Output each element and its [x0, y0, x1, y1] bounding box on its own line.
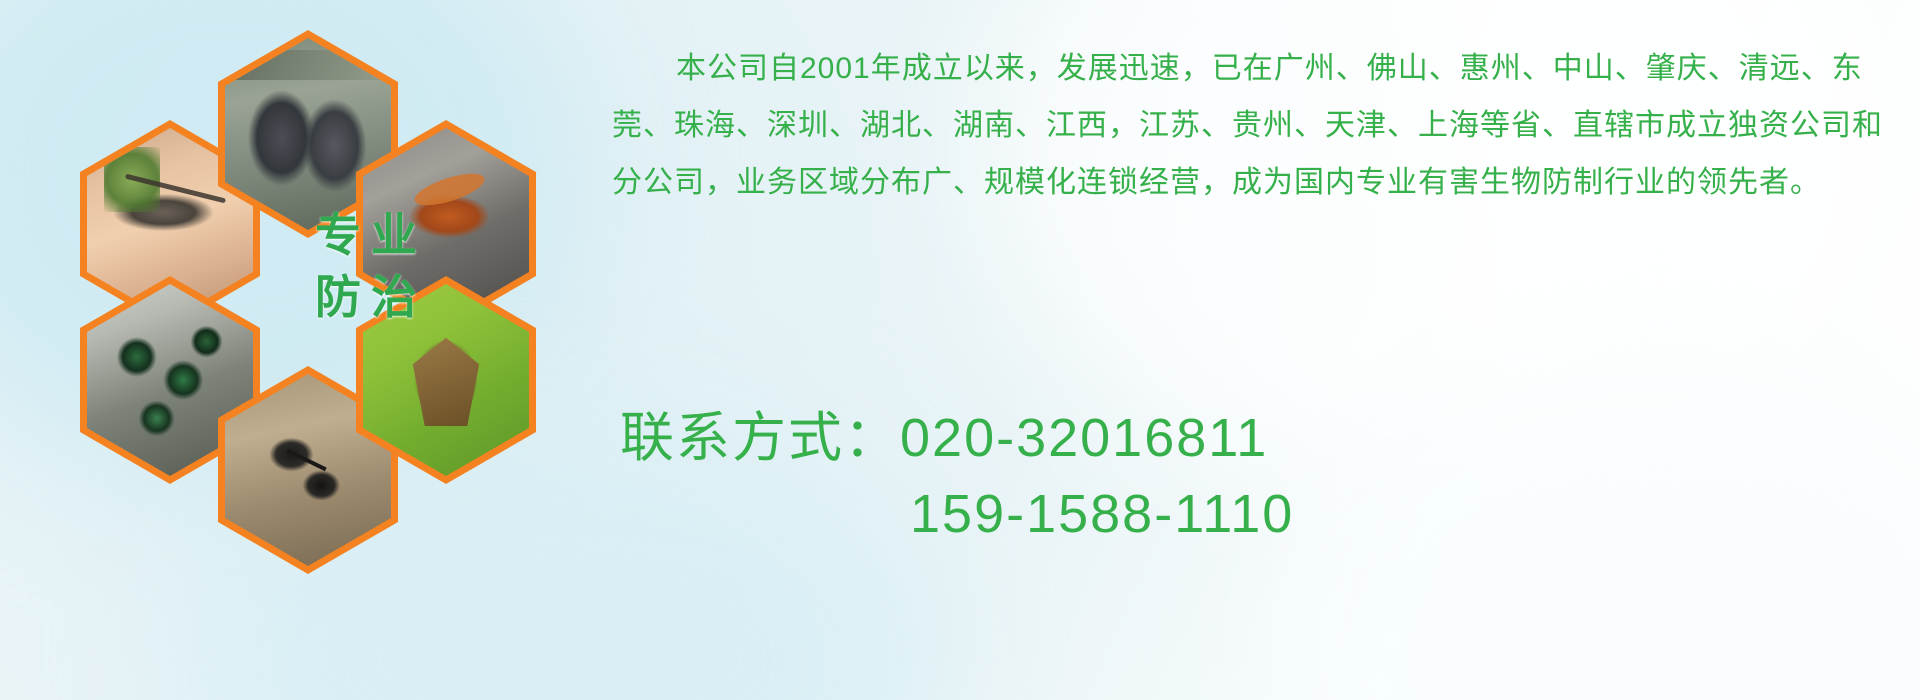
comb-center-label: 专业 防治	[278, 205, 464, 328]
honeycomb-photo-collage: 专业 防治	[80, 10, 600, 570]
comb-label-line-1: 专业	[278, 205, 464, 267]
contact-primary-line: 联系方式：020-32016811	[620, 400, 1720, 476]
contact-label: 联系方式：	[620, 408, 900, 468]
contact-secondary-line: 159-1588-1110	[620, 476, 1720, 552]
pest-control-banner: 专业 防治 本公司自2001年成立以来，发展迅速，已在广州、佛山、惠州、中山、肇…	[0, 0, 1920, 700]
phone-primary[interactable]: 020-32016811	[900, 408, 1268, 468]
company-description: 本公司自2001年成立以来，发展迅速，已在广州、佛山、惠州、中山、肇庆、清远、东…	[612, 40, 1902, 211]
comb-label-line-2: 防治	[278, 267, 464, 329]
contact-block: 联系方式：020-32016811 159-1588-1110	[620, 400, 1720, 552]
phone-secondary[interactable]: 159-1588-1110	[910, 484, 1294, 544]
company-description-text: 本公司自2001年成立以来，发展迅速，已在广州、佛山、惠州、中山、肇庆、清远、东…	[612, 40, 1902, 211]
